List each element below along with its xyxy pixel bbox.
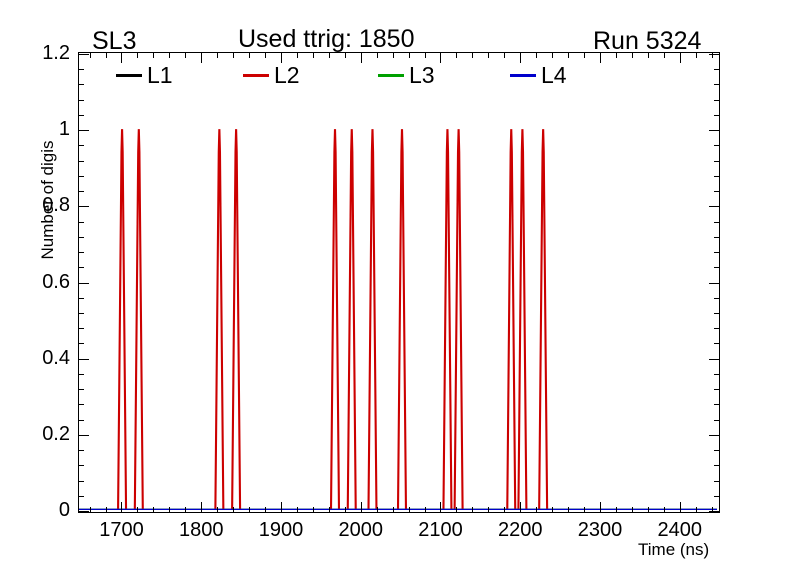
legend-swatch-l1-icon	[116, 74, 142, 77]
y-tick-minor	[78, 115, 84, 116]
x-tick-minor	[409, 507, 410, 513]
y-tick-minor	[78, 267, 84, 268]
y-tick-minor-right	[714, 176, 720, 177]
x-tick-major	[520, 502, 521, 513]
y-tick-major	[78, 130, 89, 131]
legend: L1L2L3L4	[78, 57, 720, 93]
y-tick-minor-right	[714, 481, 720, 482]
x-tick-label: 1900	[241, 519, 321, 542]
y-tick-minor	[78, 298, 84, 299]
y-tick-label: 0.8	[10, 194, 70, 217]
x-tick-minor	[329, 507, 330, 513]
y-tick-minor	[78, 481, 84, 482]
y-tick-major	[78, 206, 89, 207]
y-tick-minor-right	[714, 100, 720, 101]
y-tick-minor-right	[714, 313, 720, 314]
x-tick-minor	[185, 507, 186, 513]
legend-item-l2[interactable]: L2	[243, 57, 300, 93]
y-tick-minor-right	[714, 237, 720, 238]
y-tick-minor	[78, 313, 84, 314]
x-tick-minor	[265, 507, 266, 513]
y-tick-minor-right	[714, 420, 720, 421]
y-tick-label: 0.2	[10, 423, 70, 446]
y-tick-minor-right	[714, 252, 720, 253]
y-tick-minor	[78, 145, 84, 146]
x-tick-label: 2400	[640, 519, 720, 542]
y-tick-label: 1.2	[10, 42, 70, 65]
x-tick-major	[600, 502, 601, 513]
x-axis-label: Time (ns)	[638, 540, 709, 560]
y-tick-minor	[78, 389, 84, 390]
y-tick-minor	[78, 450, 84, 451]
x-tick-minor	[472, 507, 473, 513]
y-tick-minor-right	[714, 115, 720, 116]
x-tick-minor	[425, 507, 426, 513]
x-tick-label: 2100	[400, 519, 480, 542]
y-tick-minor-right	[714, 450, 720, 451]
y-tick-major-right	[709, 435, 720, 436]
legend-label: L1	[147, 62, 173, 89]
y-tick-minor	[78, 328, 84, 329]
y-tick-minor	[78, 374, 84, 375]
x-tick-label: 2200	[480, 519, 560, 542]
y-tick-label: 0.6	[10, 271, 70, 294]
x-tick-label: 1700	[81, 519, 161, 542]
y-tick-minor-right	[714, 465, 720, 466]
y-tick-major	[78, 283, 89, 284]
x-tick-major	[440, 502, 441, 513]
chart-canvas: SL3 Used ttrig: 1850 Run 5324 Number of …	[0, 0, 796, 572]
x-tick-minor	[632, 507, 633, 513]
y-tick-label: 1	[10, 118, 70, 141]
y-tick-minor	[78, 222, 84, 223]
x-tick-major	[361, 502, 362, 513]
x-tick-major	[680, 502, 681, 513]
legend-item-l4[interactable]: L4	[510, 57, 567, 93]
legend-item-l1[interactable]: L1	[116, 57, 173, 93]
legend-swatch-l3-icon	[378, 74, 404, 77]
x-tick-minor	[233, 507, 234, 513]
x-tick-minor	[169, 507, 170, 513]
y-tick-minor	[78, 343, 84, 344]
y-tick-minor	[78, 100, 84, 101]
series-l2	[79, 129, 717, 510]
y-tick-major	[78, 511, 89, 512]
y-tick-minor	[78, 161, 84, 162]
x-tick-minor	[106, 507, 107, 513]
x-tick-minor	[345, 507, 346, 513]
y-tick-major-right	[709, 130, 720, 131]
title-ttrig: Used ttrig: 1850	[238, 25, 415, 54]
x-tick-major	[201, 502, 202, 513]
y-tick-minor-right	[714, 161, 720, 162]
y-tick-minor-right	[714, 328, 720, 329]
y-tick-major	[78, 54, 89, 55]
x-tick-minor	[377, 507, 378, 513]
y-tick-label: 0	[10, 499, 70, 522]
legend-label: L2	[274, 62, 300, 89]
x-tick-major	[281, 502, 282, 513]
x-tick-minor	[313, 507, 314, 513]
x-tick-minor	[137, 507, 138, 513]
x-tick-minor	[297, 507, 298, 513]
x-tick-minor	[696, 507, 697, 513]
y-tick-minor-right	[714, 389, 720, 390]
legend-label: L4	[541, 62, 567, 89]
y-tick-minor	[78, 420, 84, 421]
y-tick-minor	[78, 237, 84, 238]
y-tick-major-right	[709, 206, 720, 207]
x-tick-minor	[568, 507, 569, 513]
y-tick-major-right	[709, 359, 720, 360]
y-tick-label: 0.4	[10, 347, 70, 370]
y-tick-minor	[78, 176, 84, 177]
y-tick-minor-right	[714, 191, 720, 192]
x-tick-minor	[456, 507, 457, 513]
x-tick-minor	[504, 507, 505, 513]
legend-swatch-l2-icon	[243, 74, 269, 77]
y-tick-minor-right	[714, 145, 720, 146]
y-tick-minor	[78, 465, 84, 466]
y-tick-minor	[78, 252, 84, 253]
x-tick-label: 1800	[161, 519, 241, 542]
y-tick-minor	[78, 191, 84, 192]
x-tick-minor	[664, 507, 665, 513]
x-tick-label: 2300	[560, 519, 640, 542]
x-tick-minor	[536, 507, 537, 513]
plot-area	[79, 53, 717, 510]
y-tick-minor-right	[714, 404, 720, 405]
x-tick-minor	[90, 507, 91, 513]
x-tick-minor	[393, 507, 394, 513]
x-tick-minor	[552, 507, 553, 513]
plot-frame	[78, 52, 720, 513]
x-tick-label: 2000	[321, 519, 401, 542]
x-tick-minor	[712, 507, 713, 513]
y-tick-minor-right	[714, 298, 720, 299]
legend-label: L3	[409, 62, 435, 89]
legend-swatch-l4-icon	[510, 74, 536, 77]
y-tick-minor-right	[714, 222, 720, 223]
y-tick-major	[78, 359, 89, 360]
legend-item-l3[interactable]: L3	[378, 57, 435, 93]
y-tick-minor-right	[714, 343, 720, 344]
x-tick-minor	[488, 507, 489, 513]
x-tick-minor	[153, 507, 154, 513]
y-tick-minor	[78, 404, 84, 405]
y-tick-minor-right	[714, 496, 720, 497]
y-tick-major	[78, 435, 89, 436]
y-tick-minor	[78, 496, 84, 497]
y-tick-minor-right	[714, 267, 720, 268]
x-tick-minor	[616, 507, 617, 513]
x-tick-minor	[217, 507, 218, 513]
y-tick-major-right	[709, 283, 720, 284]
x-tick-minor	[648, 507, 649, 513]
x-tick-major	[121, 502, 122, 513]
x-tick-minor	[584, 507, 585, 513]
x-tick-minor	[249, 507, 250, 513]
y-tick-minor-right	[714, 374, 720, 375]
